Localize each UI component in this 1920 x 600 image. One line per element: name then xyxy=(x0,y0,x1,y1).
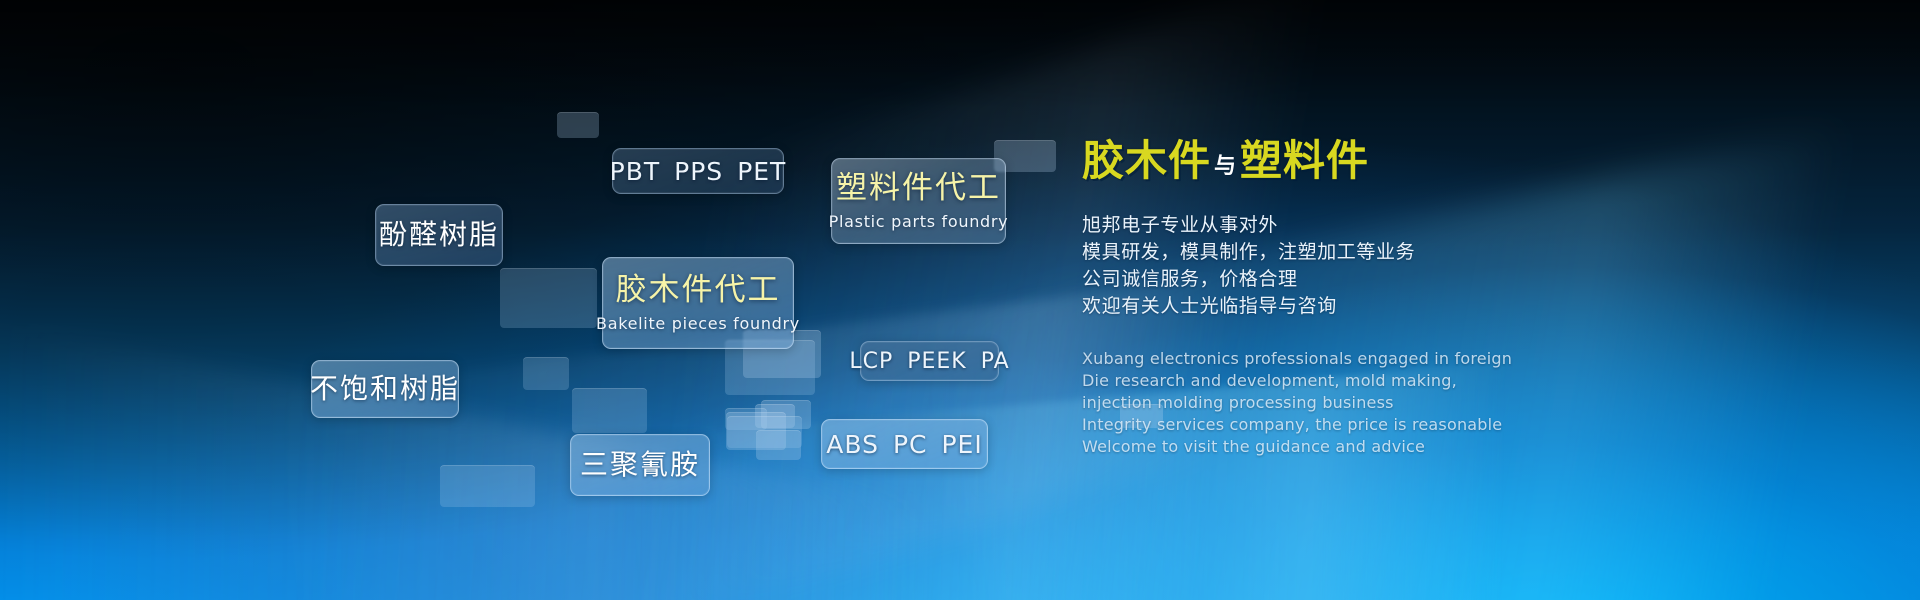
decorative-rectangle xyxy=(440,465,535,507)
copy-block: 胶木件与塑料件 旭邦电子专业从事对外 模具研发，模具制作，注塑加工等业务 公司诚… xyxy=(1082,140,1842,458)
material-tag-label: LCPPEEKPA xyxy=(849,349,1009,374)
headline-right: 塑料件 xyxy=(1240,136,1369,185)
english-description-line: injection molding processing business xyxy=(1082,392,1842,414)
english-description-line: Die research and development, mold makin… xyxy=(1082,370,1842,392)
promo-banner: PBTPPSPET 酚醛树脂 塑料件代工 Plastic parts found… xyxy=(0,0,1920,600)
decorative-rectangle xyxy=(572,388,647,433)
english-description-line: Welcome to visit the guidance and advice xyxy=(1082,436,1842,458)
headline-conjunction: 与 xyxy=(1214,154,1237,179)
decorative-rectangle xyxy=(557,112,599,138)
material-card-unsaturated-resin[interactable]: 不饱和树脂 xyxy=(311,360,459,418)
decorative-rectangle xyxy=(523,357,569,390)
material-card-melamine[interactable]: 三聚氰胺 xyxy=(570,434,710,496)
material-tag-pbt-pps-pet[interactable]: PBTPPSPET xyxy=(612,148,784,194)
headline-left: 胶木件 xyxy=(1082,136,1211,185)
material-tag-label: ABSPCPEI xyxy=(826,430,982,459)
feature-card-plastic-parts-foundry[interactable]: 塑料件代工 Plastic parts foundry xyxy=(831,158,1006,244)
material-tag-lcp-peek-pa[interactable]: LCPPEEKPA xyxy=(860,341,999,381)
material-tag-label: PBTPPSPET xyxy=(610,157,787,186)
feature-card-title-en: Plastic parts foundry xyxy=(829,212,1009,231)
material-tag-abs-pc-pei[interactable]: ABSPCPEI xyxy=(821,419,988,469)
english-description-line: Xubang electronics professionals engaged… xyxy=(1082,348,1842,370)
material-card-label: 不饱和树脂 xyxy=(310,374,460,405)
feature-card-title-cn: 胶木件代工 xyxy=(616,273,781,307)
chinese-description-line: 欢迎有关人士光临指导与咨询 xyxy=(1082,293,1842,320)
chinese-description-line: 模具研发，模具制作，注塑加工等业务 xyxy=(1082,239,1842,266)
feature-card-bakelite-pieces-foundry[interactable]: 胶木件代工 Bakelite pieces foundry xyxy=(602,257,794,349)
english-description-list: Xubang electronics professionals engaged… xyxy=(1082,348,1842,458)
material-card-label: 酚醛树脂 xyxy=(379,220,499,251)
material-card-phenolic-resin[interactable]: 酚醛树脂 xyxy=(375,204,503,266)
chinese-description-line: 公司诚信服务，价格合理 xyxy=(1082,266,1842,293)
chinese-description-line: 旭邦电子专业从事对外 xyxy=(1082,212,1842,239)
decorative-rectangle xyxy=(727,416,802,448)
feature-card-title-cn: 塑料件代工 xyxy=(836,171,1001,205)
english-description-line: Integrity services company, the price is… xyxy=(1082,414,1842,436)
chinese-description-list: 旭邦电子专业从事对外 模具研发，模具制作，注塑加工等业务 公司诚信服务，价格合理… xyxy=(1082,212,1842,320)
feature-card-title-en: Bakelite pieces foundry xyxy=(596,314,800,333)
page-title: 胶木件与塑料件 xyxy=(1082,140,1842,182)
material-card-label: 三聚氰胺 xyxy=(580,450,700,481)
decorative-rectangle xyxy=(500,268,597,328)
